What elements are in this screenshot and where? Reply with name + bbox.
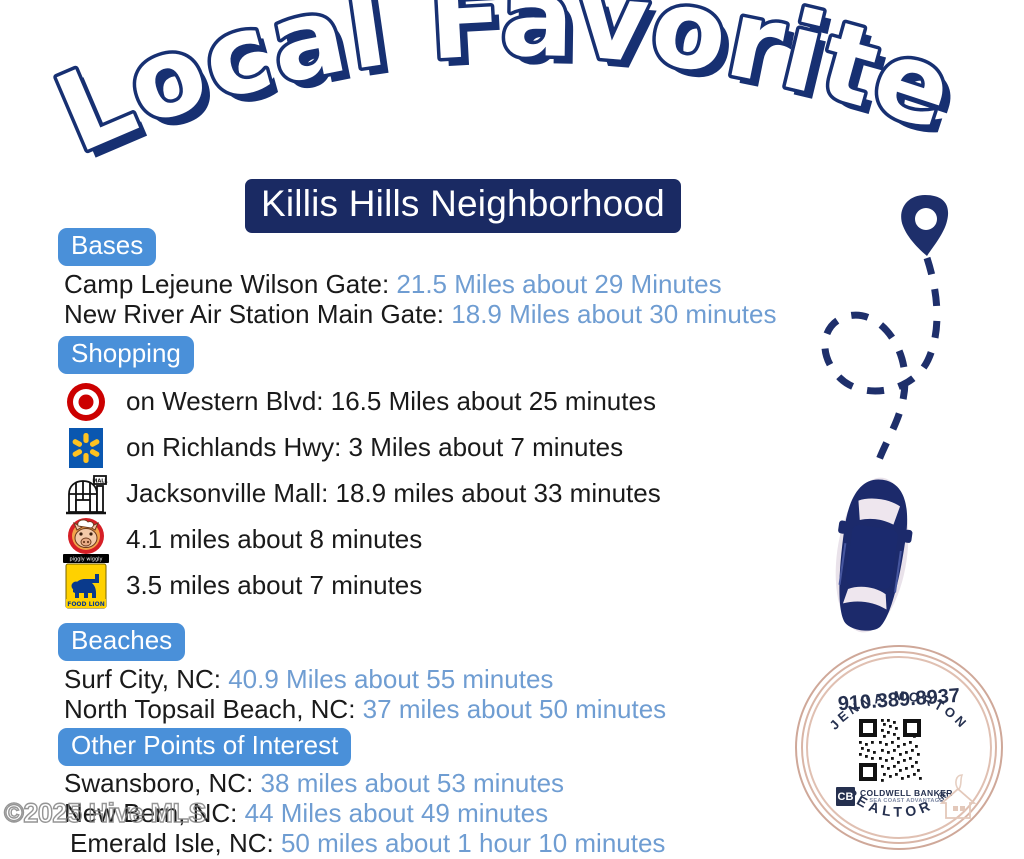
- row-label: on Western Blvd:: [126, 386, 324, 416]
- list-item: FOOD LION 3.5 miles about 7 minutes: [58, 563, 661, 609]
- list-item: Swansboro, NC: 38 miles about 53 minutes: [58, 768, 665, 798]
- list-item: Camp Lejeune Wilson Gate: 21.5 Miles abo…: [58, 269, 776, 299]
- section-badge-shopping: Shopping: [58, 336, 194, 374]
- section-badge-bases: Bases: [58, 228, 156, 266]
- row-value: 3 Miles about 7 minutes: [349, 432, 624, 462]
- list-item: New River Air Station Main Gate: 18.9 Mi…: [58, 299, 776, 329]
- section-badge-other-points: Other Points of Interest: [58, 728, 351, 766]
- row-value: 37 miles about 50 minutes: [363, 694, 667, 724]
- cb-monogram: CB: [836, 787, 855, 806]
- row-value: 3.5 miles about 7 minutes: [126, 570, 422, 600]
- piggly-wiggly-logo-icon: piggly wiggly: [58, 517, 114, 563]
- mall-sign-label: MALL: [92, 478, 108, 484]
- row-label: Swansboro, NC:: [64, 768, 253, 798]
- list-item: North Topsail Beach, NC: 37 miles about …: [58, 694, 666, 724]
- food-lion-logo-icon: FOOD LION: [58, 563, 114, 609]
- row-value: 50 miles about 1 hour 10 minutes: [281, 828, 665, 858]
- food-lion-label: FOOD LION: [67, 601, 105, 608]
- row-value: 38 miles about 53 minutes: [261, 768, 565, 798]
- row-value: 16.5 Miles about 25 minutes: [331, 386, 656, 416]
- row-text: 3.5 miles about 7 minutes: [114, 570, 422, 601]
- row-value: 18.9 Miles about 30 minutes: [451, 299, 776, 329]
- coldwell-banker-logo: CB COLDWELL BANKER SEA COAST ADVANTAGE: [836, 787, 953, 806]
- section-shopping: Shopping on Western Blvd: 16.5 Miles abo…: [58, 336, 661, 609]
- mall-building-icon: MALL: [58, 471, 114, 517]
- list-item: on Western Blvd: 16.5 Miles about 25 min…: [58, 379, 661, 425]
- row-label: on Richlands Hwy:: [126, 432, 341, 462]
- section-badge-beaches: Beaches: [58, 623, 185, 661]
- watermark: ©2025 Hive MLS: [4, 798, 206, 829]
- row-text: on Richlands Hwy: 3 Miles about 7 minute…: [114, 432, 623, 463]
- target-logo-icon: [58, 379, 114, 425]
- qr-code-icon: [857, 717, 923, 783]
- row-value: 18.9 miles about 33 minutes: [336, 478, 661, 508]
- row-value: 40.9 Miles about 55 minutes: [228, 664, 553, 694]
- row-value: 44 Miles about 49 minutes: [245, 798, 549, 828]
- section-bases: Bases Camp Lejeune Wilson Gate: 21.5 Mil…: [58, 228, 776, 329]
- section-beaches: Beaches Surf City, NC: 40.9 Miles about …: [58, 623, 666, 724]
- row-label: Jacksonville Mall:: [126, 478, 328, 508]
- realtor-badge: JENNA MORTON REALTOR ® 910.389.8937: [795, 645, 1003, 850]
- house-icon: [938, 773, 978, 821]
- row-label: Camp Lejeune Wilson Gate:: [64, 269, 389, 299]
- section-other-points-of-interest: Other Points of Interest Swansboro, NC: …: [58, 728, 665, 859]
- row-text: 4.1 miles about 8 minutes: [114, 524, 422, 555]
- list-item: piggly wiggly 4.1 miles about 8 minutes: [58, 517, 661, 563]
- row-value: 21.5 Miles about 29 Minutes: [396, 269, 721, 299]
- list-item: Emerald Isle, NC: 50 miles about 1 hour …: [58, 828, 665, 858]
- row-label: Surf City, NC:: [64, 664, 221, 694]
- row-value: 4.1 miles about 8 minutes: [126, 524, 422, 554]
- row-label: North Topsail Beach, NC:: [64, 694, 355, 724]
- list-item: Surf City, NC: 40.9 Miles about 55 minut…: [58, 664, 666, 694]
- row-text: on Western Blvd: 16.5 Miles about 25 min…: [114, 386, 656, 417]
- row-label: New River Air Station Main Gate:: [64, 299, 444, 329]
- walmart-logo-icon: [58, 425, 114, 471]
- list-item: MALL Jacksonville Mall: 18.9 miles about…: [58, 471, 661, 517]
- row-label: Emerald Isle, NC:: [70, 828, 274, 858]
- row-text: Jacksonville Mall: 18.9 miles about 33 m…: [114, 478, 661, 509]
- list-item: on Richlands Hwy: 3 Miles about 7 minute…: [58, 425, 661, 471]
